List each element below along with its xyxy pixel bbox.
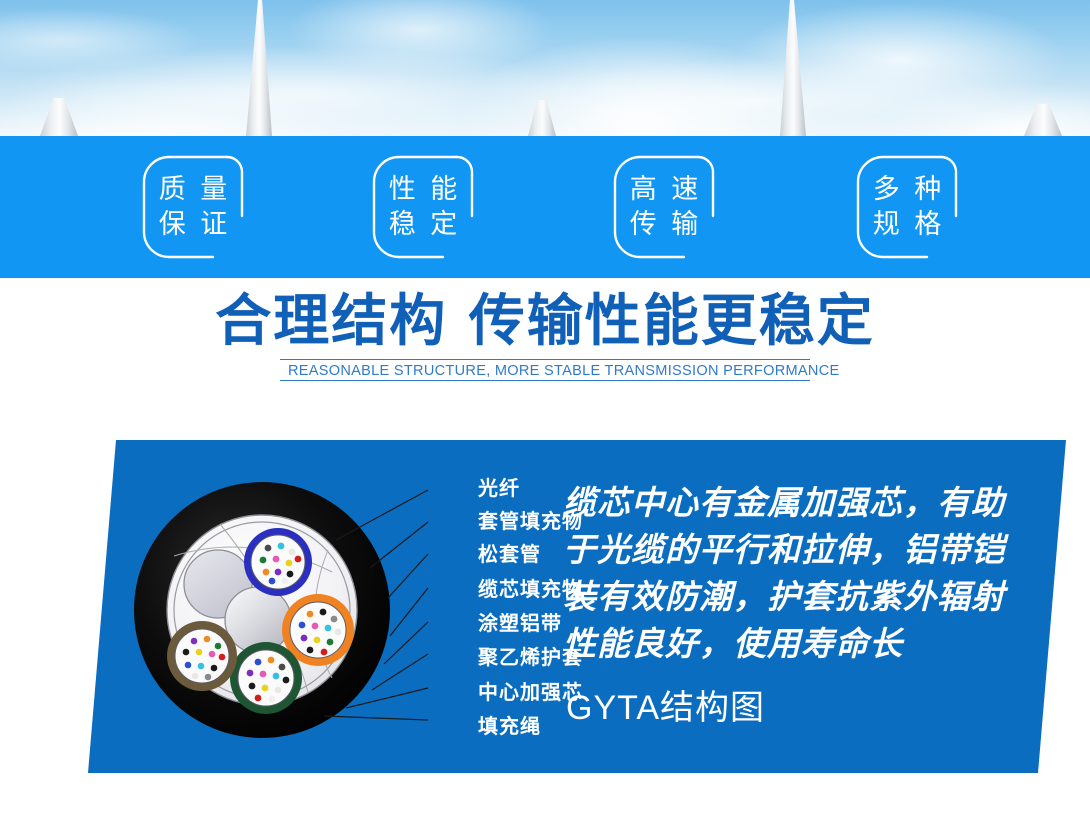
badge-text: 多 种 规 格	[855, 154, 959, 260]
cable-structure-panel: 光纤 套管填充物 松套管 缆芯填充物 涂塑铝带 聚乙烯护套 中心加强芯 填充绳 …	[88, 440, 1066, 773]
badge-line-2: 稳 定	[386, 207, 461, 242]
page-subtitle: REASONABLE STRUCTURE, MORE STABLE TRANSM…	[288, 362, 802, 379]
panel-content: 光纤 套管填充物 松套管 缆芯填充物 涂塑铝带 聚乙烯护套 中心加强芯 填充绳 …	[88, 440, 1066, 773]
loose-tube-brown	[167, 621, 237, 691]
page-title: 合理结构 传输性能更稳定	[0, 292, 1090, 352]
subtitle-rule-wrapper: REASONABLE STRUCTURE, MORE STABLE TRANSM…	[280, 359, 810, 381]
feature-badge-band: 质 量 保 证 性 能 稳 定	[0, 136, 1090, 278]
diagram-caption: GYTA结构图	[566, 680, 765, 729]
callout-optical-fiber: 光纤	[478, 472, 520, 501]
product-detail-page: 质 量 保 证 性 能 稳 定	[0, 0, 1090, 837]
loose-tube-blue	[244, 528, 312, 596]
badge-text: 质 量 保 证	[141, 154, 245, 260]
callout-aluminium-tape: 涂塑铝带	[478, 607, 562, 636]
badge-high-speed-transmission[interactable]: 高 速 传 输	[612, 154, 716, 260]
badge-line-2: 传 输	[627, 207, 702, 242]
loose-tube-green	[230, 642, 302, 714]
hero-sky-banner	[0, 0, 1090, 136]
badge-line-2: 保 证	[156, 207, 231, 242]
section-heading: 合理结构 传输性能更稳定 REASONABLE STRUCTURE, MORE …	[0, 292, 1090, 381]
cable-diagram-svg	[132, 480, 392, 740]
badge-text: 高 速 传 输	[612, 154, 716, 260]
callout-filler-rope: 填充绳	[478, 710, 541, 739]
badge-list: 质 量 保 证 性 能 稳 定	[0, 136, 1090, 278]
cable-description-text: 缆芯中心有金属加强芯，有助于光缆的平行和拉伸，铝带铠装有效防潮，护套抗紫外辐射性…	[563, 480, 1033, 667]
badge-text: 性 能 稳 定	[371, 154, 475, 260]
callout-loose-tube: 松套管	[478, 538, 541, 567]
badge-multiple-specifications[interactable]: 多 种 规 格	[855, 154, 959, 260]
badge-line-1: 质 量	[156, 172, 231, 207]
badge-line-1: 多 种	[870, 172, 945, 207]
badge-line-2: 规 格	[870, 207, 945, 242]
badge-line-1: 性 能	[386, 172, 461, 207]
badge-line-1: 高 速	[627, 172, 702, 207]
badge-quality-guarantee[interactable]: 质 量 保 证	[141, 154, 245, 260]
cable-cross-section-diagram	[132, 480, 392, 740]
badge-stable-performance[interactable]: 性 能 稳 定	[371, 154, 475, 260]
